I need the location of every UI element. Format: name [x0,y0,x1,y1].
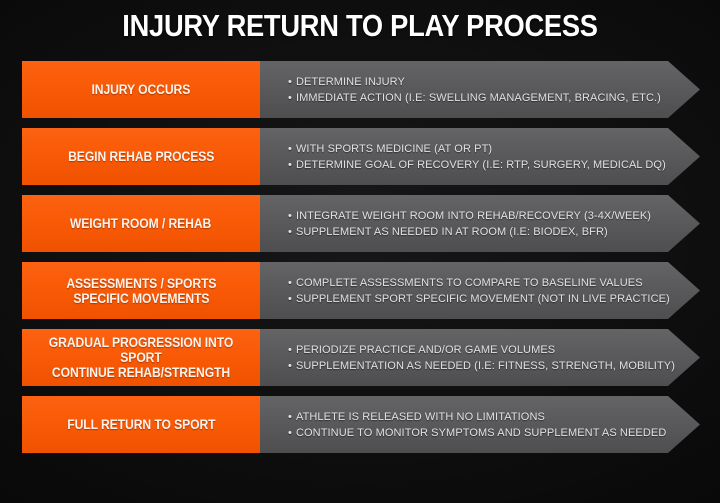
step-label: FULL RETURN TO SPORT [67,417,215,432]
list-item-text: SUPPLEMENT AS NEEDED IN AT ROOM (I.E: BI… [296,226,608,238]
bullet-icon: • [288,342,292,358]
process-step-row: WEIGHT ROOM / REHAB •INTEGRATE WEIGHT RO… [22,195,712,252]
bullet-icon: • [288,74,292,90]
list-item: •DETERMINE GOAL OF RECOVERY (I.E: RTP, S… [288,157,694,173]
step-label: BEGIN REHAB PROCESS [68,149,214,164]
list-item-text: DETERMINE GOAL OF RECOVERY (I.E: RTP, SU… [296,159,666,171]
list-item: •CONTINUE TO MONITOR SYMPTOMS AND SUPPLE… [288,425,694,441]
process-step-row: ASSESSMENTS / SPORTS SPECIFIC MOVEMENTS … [22,262,712,319]
process-step-row: FULL RETURN TO SPORT •ATHLETE IS RELEASE… [22,396,712,453]
step-detail-list: •COMPLETE ASSESSMENTS TO COMPARE TO BASE… [274,262,694,319]
list-item: •PERIODIZE PRACTICE AND/OR GAME VOLUMES [288,342,694,358]
bullet-icon: • [288,275,292,291]
list-item-text: ATHLETE IS RELEASED WITH NO LIMITATIONS [296,411,545,423]
list-item: •ATHLETE IS RELEASED WITH NO LIMITATIONS [288,409,694,425]
step-detail-list: •DETERMINE INJURY •IMMEDIATE ACTION (I.E… [274,61,694,118]
bullet-icon: • [288,291,292,307]
list-item: •SUPPLEMENTATION AS NEEDED (I.E: FITNESS… [288,358,694,374]
process-step-row: GRADUAL PROGRESSION INTO SPORT CONTINUE … [22,329,712,386]
list-item: •INTEGRATE WEIGHT ROOM INTO REHAB/RECOVE… [288,208,694,224]
step-detail-list: •PERIODIZE PRACTICE AND/OR GAME VOLUMES … [274,329,694,386]
bullet-icon: • [288,358,292,374]
list-item-text: CONTINUE TO MONITOR SYMPTOMS AND SUPPLEM… [296,427,666,439]
step-label-box: INJURY OCCURS [22,61,260,118]
list-item-text: PERIODIZE PRACTICE AND/OR GAME VOLUMES [296,344,555,356]
bullet-icon: • [288,208,292,224]
injury-return-to-play-infographic: INJURY RETURN TO PLAY PROCESS INJURY OCC… [0,0,720,503]
list-item-text: COMPLETE ASSESSMENTS TO COMPARE TO BASEL… [296,277,643,289]
step-label-box: BEGIN REHAB PROCESS [22,128,260,185]
list-item: •DETERMINE INJURY [288,74,694,90]
step-label-box: FULL RETURN TO SPORT [22,396,260,453]
bullet-icon: • [288,141,292,157]
list-item-text: SUPPLEMENT SPORT SPECIFIC MOVEMENT (NOT … [296,293,670,305]
bullet-icon: • [288,157,292,173]
step-detail-list: •WITH SPORTS MEDICINE (AT OR PT) •DETERM… [274,128,694,185]
list-item: •SUPPLEMENT SPORT SPECIFIC MOVEMENT (NOT… [288,291,694,307]
list-item-text: IMMEDIATE ACTION (I.E: SWELLING MANAGEME… [296,92,661,104]
process-step-row: INJURY OCCURS •DETERMINE INJURY •IMMEDIA… [22,61,712,118]
step-label: ASSESSMENTS / SPORTS SPECIFIC MOVEMENTS [66,276,216,306]
list-item-text: WITH SPORTS MEDICINE (AT OR PT) [296,143,492,155]
step-label-box: ASSESSMENTS / SPORTS SPECIFIC MOVEMENTS [22,262,260,319]
bullet-icon: • [288,409,292,425]
list-item-text: INTEGRATE WEIGHT ROOM INTO REHAB/RECOVER… [296,210,651,222]
list-item: •WITH SPORTS MEDICINE (AT OR PT) [288,141,694,157]
step-label-box: GRADUAL PROGRESSION INTO SPORT CONTINUE … [22,329,260,386]
bullet-icon: • [288,224,292,240]
process-step-row: BEGIN REHAB PROCESS •WITH SPORTS MEDICIN… [22,128,712,185]
list-item: •COMPLETE ASSESSMENTS TO COMPARE TO BASE… [288,275,694,291]
process-step-list: INJURY OCCURS •DETERMINE INJURY •IMMEDIA… [22,61,712,453]
list-item: •SUPPLEMENT AS NEEDED IN AT ROOM (I.E: B… [288,224,694,240]
step-label: GRADUAL PROGRESSION INTO SPORT CONTINUE … [39,335,242,380]
step-label: INJURY OCCURS [92,82,191,97]
bullet-icon: • [288,425,292,441]
step-label-box: WEIGHT ROOM / REHAB [22,195,260,252]
list-item-text: DETERMINE INJURY [296,76,405,88]
list-item-text: SUPPLEMENTATION AS NEEDED (I.E: FITNESS,… [296,360,675,372]
bullet-icon: • [288,90,292,106]
step-detail-list: •INTEGRATE WEIGHT ROOM INTO REHAB/RECOVE… [274,195,694,252]
step-detail-list: •ATHLETE IS RELEASED WITH NO LIMITATIONS… [274,396,694,453]
step-label: WEIGHT ROOM / REHAB [70,216,211,231]
page-title: INJURY RETURN TO PLAY PROCESS [43,8,677,44]
list-item: •IMMEDIATE ACTION (I.E: SWELLING MANAGEM… [288,90,694,106]
